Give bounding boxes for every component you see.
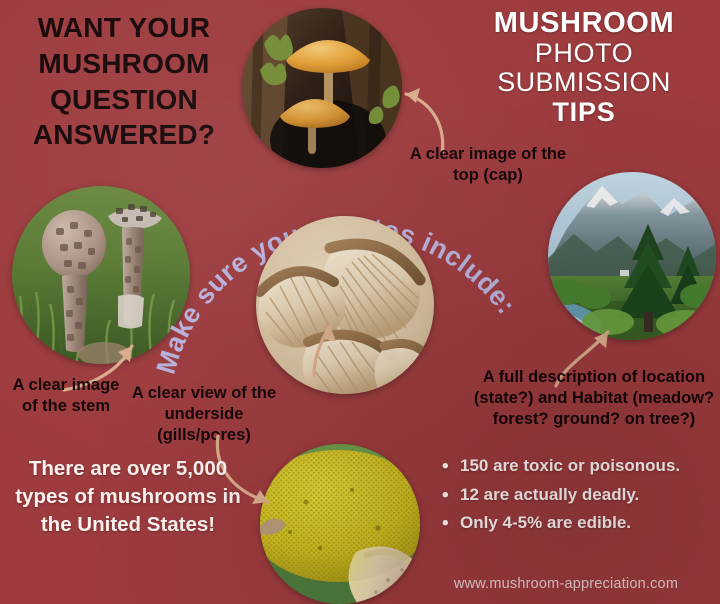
caption-stem: A clear image of the stem: [4, 375, 128, 417]
photo-habitat-landscape: [548, 172, 716, 340]
page-title: WANT YOUR MUSHROOM QUESTION ANSWERED?: [8, 10, 240, 153]
website-url[interactable]: www.mushroom-appreciation.com: [420, 576, 712, 592]
infographic-poster: WANT YOUR MUSHROOM QUESTION ANSWERED? MU…: [0, 0, 720, 604]
tips-title-line-3: SUBMISSION: [460, 68, 708, 97]
list-item: 12 are actually deadly.: [438, 484, 718, 507]
list-item: Only 4-5% are edible.: [438, 512, 718, 535]
caption-location-habitat: A full description of location (state?) …: [468, 367, 720, 429]
caption-gills: A clear view of the underside (gills/por…: [128, 383, 280, 445]
facts-list: 150 are toxic or poisonous. 12 are actua…: [438, 455, 718, 541]
tips-title-line-1: MUSHROOM: [460, 8, 708, 39]
caption-cap: A clear image of the top (cap): [404, 144, 572, 186]
photo-mushroom-cap: [242, 8, 402, 168]
tips-title-line-4: TIPS: [460, 98, 708, 127]
tips-title-block: MUSHROOM PHOTO SUBMISSION TIPS: [460, 8, 708, 127]
photo-mushroom-pores: [260, 444, 420, 604]
stat-total-species: There are over 5,000 types of mushrooms …: [10, 455, 246, 539]
list-item: 150 are toxic or poisonous.: [438, 455, 718, 478]
tips-title-line-2: PHOTO: [460, 39, 708, 68]
photo-mushroom-gills: [256, 216, 434, 394]
